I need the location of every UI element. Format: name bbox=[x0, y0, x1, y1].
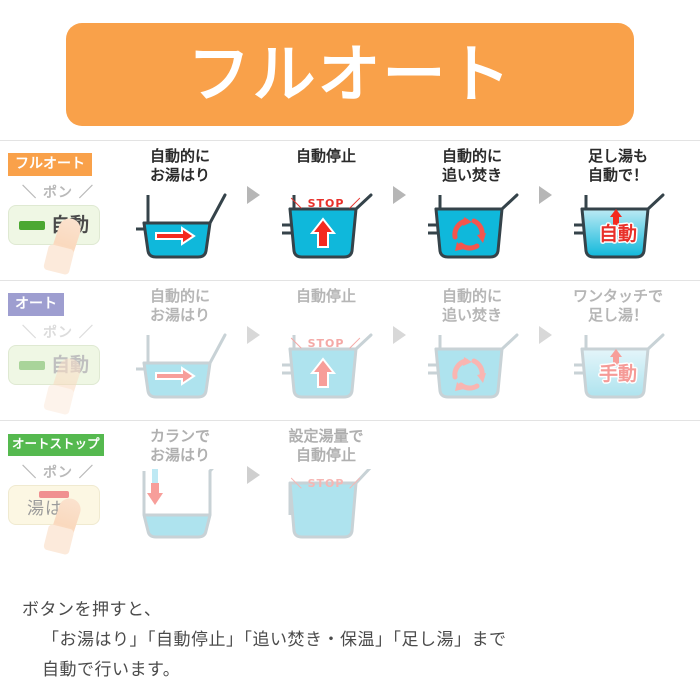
steps-strip: 自動的に お湯はり 自動停止 bbox=[118, 141, 700, 263]
bathtub-icon bbox=[414, 329, 530, 401]
tub-illustration: ＼ STOP ／ bbox=[264, 189, 388, 263]
press-sound-label: ＼ ポン ／ bbox=[8, 462, 108, 482]
mode-panel: オート ＼ ポン ／ 自動 bbox=[0, 281, 118, 385]
header-banner: フルオート bbox=[66, 23, 634, 126]
bathtub-icon bbox=[122, 189, 238, 261]
step-label: 設定湯量で 自動停止 bbox=[264, 427, 388, 467]
step-label: 自動的に 追い焚き bbox=[410, 287, 534, 327]
triangle-right-icon bbox=[393, 186, 406, 204]
step-separator bbox=[388, 147, 410, 243]
step-label: 自動的に お湯はり bbox=[118, 147, 242, 187]
tub-illustration bbox=[118, 189, 242, 263]
step-separator-empty bbox=[534, 427, 556, 523]
triangle-right-icon bbox=[247, 186, 260, 204]
step-refill: 足し湯も 自動で！ bbox=[556, 147, 680, 263]
mode-badge: オートストップ bbox=[8, 434, 104, 456]
press-sound-label: ＼ ポン ／ bbox=[8, 182, 108, 202]
mode-row-auto-stop: オートストップ ＼ ポン ／ 湯はり カランで お湯はり bbox=[0, 420, 700, 560]
step-separator bbox=[388, 287, 410, 383]
step-separator bbox=[242, 147, 264, 243]
bathtub-icon bbox=[268, 189, 384, 261]
tub-illustration bbox=[410, 189, 534, 263]
step-label: 自動停止 bbox=[264, 147, 388, 187]
step-separator bbox=[534, 147, 556, 243]
bathtub-icon bbox=[268, 469, 384, 541]
tub-illustration: ＼ STOP ／ bbox=[264, 329, 388, 403]
step-separator bbox=[242, 287, 264, 383]
triangle-right-icon bbox=[247, 326, 260, 344]
step-reheat: 自動的に 追い焚き bbox=[410, 147, 534, 263]
step-reheat: 自動的に 追い焚き bbox=[410, 287, 534, 403]
step-refill: ワンタッチで 足し湯！ bbox=[556, 287, 680, 403]
tub-illustration: 自動 bbox=[556, 189, 680, 263]
step-fill: 自動的に お湯はり bbox=[118, 287, 242, 403]
mode-row-auto: オート ＼ ポン ／ 自動 自動的に お湯はり bbox=[0, 280, 700, 420]
tub-illustration bbox=[118, 469, 242, 543]
step-fill: 自動的に お湯はり bbox=[118, 147, 242, 263]
tub-illustration: ＼ STOP ／ bbox=[264, 469, 388, 543]
mode-badge: オート bbox=[8, 293, 64, 316]
bathtub-icon bbox=[414, 189, 530, 261]
led-indicator-icon bbox=[19, 361, 45, 370]
triangle-right-icon bbox=[539, 186, 552, 204]
bathtub-icon bbox=[560, 329, 676, 401]
tub-illustration: 手動 bbox=[556, 329, 680, 403]
step-label: ワンタッチで 足し湯！ bbox=[556, 287, 680, 327]
step-label: カランで お湯はり bbox=[118, 427, 242, 467]
tub-illustration bbox=[118, 329, 242, 403]
bathtub-icon bbox=[122, 469, 238, 541]
step-faucet-stop: 設定湯量で 自動停止 ＼ STOP ／ bbox=[264, 427, 388, 543]
press-sound-label: ＼ ポン ／ bbox=[8, 322, 108, 342]
step-label: 自動的に お湯はり bbox=[118, 287, 242, 327]
triangle-right-icon bbox=[393, 326, 406, 344]
bathtub-icon bbox=[560, 189, 676, 261]
step-separator-empty bbox=[388, 427, 410, 523]
triangle-right-icon bbox=[247, 466, 260, 484]
bathtub-icon bbox=[268, 329, 384, 401]
step-label: 自動停止 bbox=[264, 287, 388, 327]
mode-row-full-auto: フルオート ＼ ポン ／ 自動 自動的に お湯はり bbox=[0, 140, 700, 280]
step-faucet-fill: カランで お湯はり bbox=[118, 427, 242, 543]
down-arrow-icon bbox=[147, 483, 163, 505]
led-indicator-icon bbox=[39, 491, 69, 498]
step-label: 足し湯も 自動で！ bbox=[556, 147, 680, 187]
step-separator bbox=[534, 287, 556, 383]
mode-panel: オートストップ ＼ ポン ／ 湯はり bbox=[0, 421, 118, 525]
page-title: フルオート bbox=[188, 43, 513, 106]
step-auto-stop: 自動停止 ＼ STOP ／ bbox=[264, 287, 388, 403]
footer-line-1: ボタンを押すと、 bbox=[22, 600, 161, 620]
step-auto-stop: 自動停止 ＼ STOP ／ bbox=[264, 147, 388, 263]
step-separator bbox=[242, 427, 264, 523]
steps-strip: カランで お湯はり 設定湯量で 自動停止 bbox=[118, 421, 700, 543]
header-banner-wrap: フルオート bbox=[0, 0, 700, 140]
bathtub-icon bbox=[122, 329, 238, 401]
triangle-right-icon bbox=[539, 326, 552, 344]
footer-line-3: 自動で行います。 bbox=[22, 656, 507, 686]
steps-strip: 自動的に お湯はり 自動停止 bbox=[118, 281, 700, 403]
footer-note: ボタンを押すと、 「お湯はり」「自動停止」「追い焚き・保温」「足し湯」まで 自動… bbox=[22, 596, 507, 685]
step-label: 自動的に 追い焚き bbox=[410, 147, 534, 187]
led-indicator-icon bbox=[19, 221, 45, 230]
tub-illustration bbox=[410, 329, 534, 403]
mode-badge: フルオート bbox=[8, 153, 92, 176]
mode-panel: フルオート ＼ ポン ／ 自動 bbox=[0, 141, 118, 245]
footer-line-2: 「お湯はり」「自動停止」「追い焚き・保温」「足し湯」まで bbox=[22, 626, 507, 656]
